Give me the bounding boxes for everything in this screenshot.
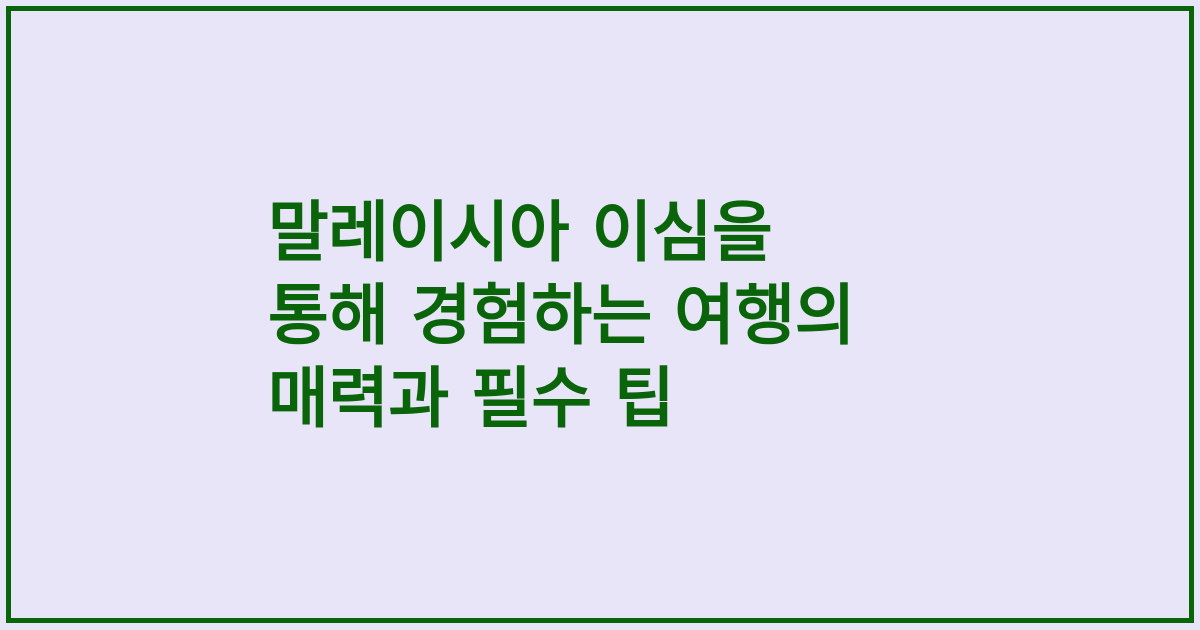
- title-line-2: 통해 경험하는 여행의: [268, 274, 855, 357]
- og-title-card: 말레이시아 이심을 통해 경험하는 여행의 매력과 필수 팁: [0, 0, 1200, 630]
- title-line-1: 말레이시아 이심을: [268, 191, 772, 274]
- title-line-3: 매력과 필수 팁: [268, 357, 674, 440]
- page-title: 말레이시아 이심을 통해 경험하는 여행의 매력과 필수 팁: [0, 0, 1200, 630]
